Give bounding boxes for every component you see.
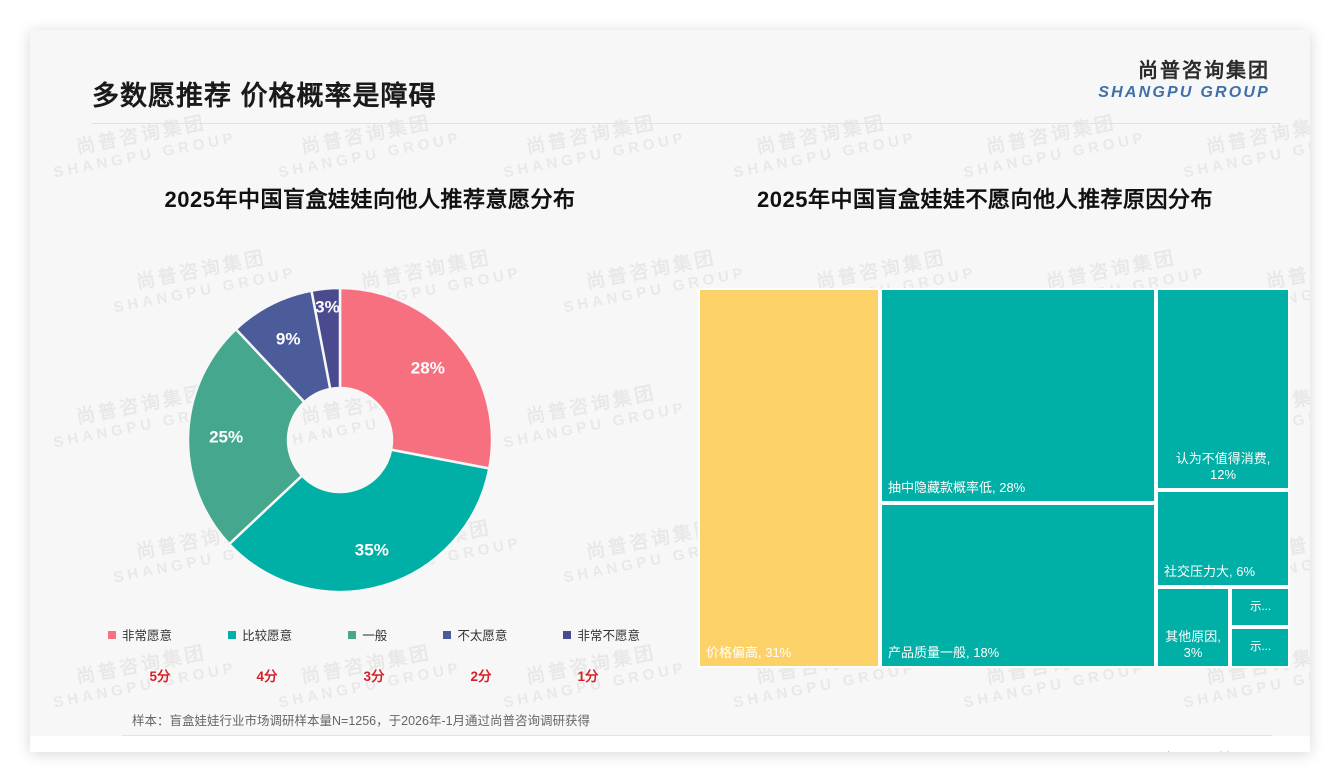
- donut-score-row: 5分4分3分2分1分: [84, 665, 664, 685]
- sample-note: 样本：盲盒娃娃行业市场调研样本量N=1256，于2026年-1月通过尚普咨询调研…: [132, 710, 590, 729]
- donut-chart-title: 2025年中国盲盒娃娃向他人推荐意愿分布: [70, 182, 670, 214]
- donut-slice-label: 9%: [276, 329, 301, 348]
- treemap-cell-label: 抽中隐藏款概率低, 28%: [888, 480, 1149, 496]
- legend-item[interactable]: 非常愿意: [108, 625, 172, 644]
- legend-item-label: 非常不愿意: [577, 625, 640, 644]
- donut-slice[interactable]: [340, 288, 492, 468]
- treemap-cell[interactable]: 示...: [1230, 627, 1290, 668]
- donut-chart-svg: 28%35%25%9%3%: [180, 280, 500, 600]
- brand-logo-cn: 尚普咨询集团: [1098, 60, 1270, 83]
- treemap-cell-label: 其他原因, 3%: [1162, 629, 1224, 662]
- footer-copyright: ©2026.1 SHANGPU GROUP: [92, 750, 254, 752]
- donut-slice-label: 25%: [209, 427, 243, 446]
- legend-swatch-icon: [228, 631, 236, 639]
- treemap-cell[interactable]: 示...: [1230, 587, 1290, 627]
- legend-swatch-icon: [563, 631, 571, 639]
- donut-slice-label: 28%: [411, 358, 445, 377]
- legend-score-label: 5分: [108, 665, 212, 685]
- legend-swatch-icon: [108, 631, 116, 639]
- slide-header: 多数愿推荐 价格概率是障碍 尚普咨询集团 SHANGPU GROUP: [30, 30, 1310, 122]
- donut-legend: 非常愿意比较愿意一般不太愿意非常不愿意: [84, 625, 664, 644]
- brand-logo: 尚普咨询集团 SHANGPU GROUP: [1098, 60, 1270, 102]
- treemap-cell[interactable]: 产品质量一般, 18%: [880, 503, 1156, 668]
- treemap-cell-label: 产品质量一般, 18%: [888, 645, 1149, 661]
- legend-item[interactable]: 比较愿意: [228, 625, 292, 644]
- legend-score-label: 4分: [215, 665, 319, 685]
- legend-score-label: 3分: [322, 665, 426, 685]
- legend-swatch-icon: [348, 631, 356, 639]
- treemap-chart: 价格偏高, 31%抽中隐藏款概率低, 28%产品质量一般, 18%认为不值得消费…: [698, 288, 1290, 668]
- footer-website: www.shangpu-china.com: [1131, 750, 1270, 752]
- treemap-cell[interactable]: 抽中隐藏款概率低, 28%: [880, 288, 1156, 503]
- treemap-chart-title: 2025年中国盲盒娃娃不愿向他人推荐原因分布: [680, 182, 1290, 214]
- legend-item-label: 不太愿意: [457, 625, 507, 644]
- treemap-cell-label: 认为不值得消费, 12%: [1162, 451, 1284, 484]
- treemap-cell-label: 价格偏高, 31%: [706, 645, 873, 661]
- donut-slice-label: 35%: [355, 541, 389, 560]
- legend-item-label: 比较愿意: [242, 625, 292, 644]
- treemap-cell[interactable]: 认为不值得消费, 12%: [1156, 288, 1290, 490]
- legend-score-label: 2分: [429, 665, 533, 685]
- slide-footer: ©2026.1 SHANGPU GROUP www.shangpu-china.…: [30, 736, 1310, 752]
- legend-item[interactable]: 一般: [348, 625, 387, 644]
- page-title: 多数愿推荐 价格概率是障碍: [92, 74, 437, 113]
- treemap-cell[interactable]: 价格偏高, 31%: [698, 288, 880, 668]
- legend-swatch-icon: [443, 631, 451, 639]
- brand-logo-en: SHANGPU GROUP: [1098, 83, 1270, 102]
- legend-item[interactable]: 不太愿意: [443, 625, 507, 644]
- legend-score-label: 1分: [536, 665, 640, 685]
- treemap-cell-label: 示...: [1238, 600, 1283, 614]
- treemap-cell-label: 社交压力大, 6%: [1164, 564, 1283, 580]
- slide-card: 尚普咨询集团SHANGPU GROUP尚普咨询集团SHANGPU GROUP尚普…: [30, 30, 1310, 752]
- donut-chart: 28%35%25%9%3%: [180, 280, 500, 600]
- legend-item-label: 一般: [362, 625, 387, 644]
- treemap-cell[interactable]: 其他原因, 3%: [1156, 587, 1230, 668]
- treemap-chart-panel: 2025年中国盲盒娃娃不愿向他人推荐原因分布 价格偏高, 31%抽中隐藏款概率低…: [680, 140, 1290, 700]
- legend-item[interactable]: 非常不愿意: [563, 625, 640, 644]
- header-divider: [92, 123, 1280, 124]
- treemap-cell-label: 示...: [1238, 640, 1283, 654]
- treemap-cell[interactable]: 社交压力大, 6%: [1156, 490, 1290, 587]
- legend-item-label: 非常愿意: [122, 625, 172, 644]
- donut-slice-label: 3%: [315, 298, 340, 317]
- donut-chart-panel: 2025年中国盲盒娃娃向他人推荐意愿分布 28%35%25%9%3% 非常愿意比…: [70, 140, 670, 700]
